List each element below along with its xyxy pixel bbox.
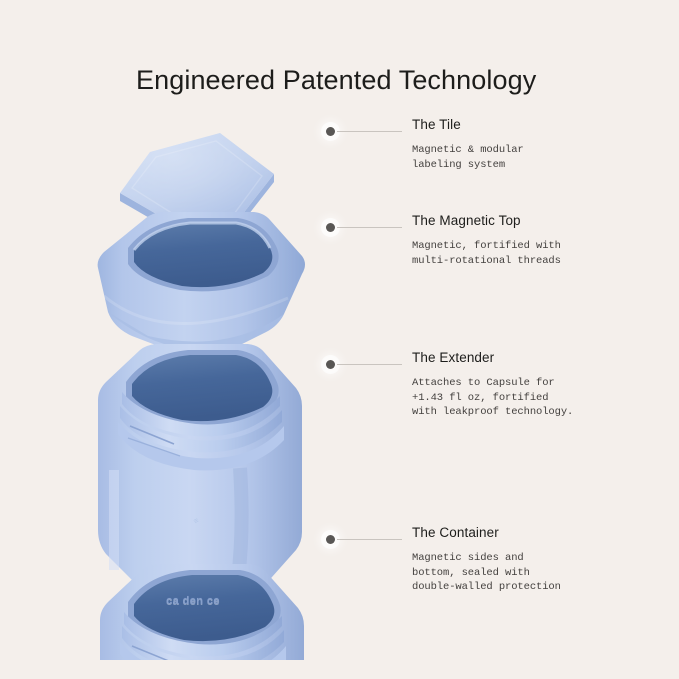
callout-marker-dot [326,223,335,232]
callout-body: The Tile Magnetic & modular labeling sys… [412,115,612,172]
callout-label: The Extender [412,348,612,368]
product-illustration: ≡ [88,100,313,660]
callout-leader-line [337,131,402,132]
callout-leader-line [337,364,402,365]
callout-label: The Tile [412,115,612,135]
callout-body: The Magnetic Top Magnetic, fortified wit… [412,211,612,268]
callout-description: Attaches to Capsule for +1.43 fl oz, for… [412,376,612,420]
callout-body: The Extender Attaches to Capsule for +1.… [412,348,612,420]
callout-description: Magnetic, fortified with multi-rotationa… [412,239,612,268]
part-extender [98,344,302,594]
callout-label: The Container [412,523,612,543]
callout-leader-line [337,227,402,228]
callout-description: Magnetic sides and bottom, sealed with d… [412,551,612,595]
part-magnetic-top [98,212,305,354]
page-title: Engineered Patented Technology [136,62,536,98]
part-container [93,564,304,660]
product-feature-page: Engineered Patented Technology [0,0,679,679]
callout-label: The Magnetic Top [412,211,612,231]
callout-marker-dot [326,127,335,136]
callout-description: Magnetic & modular labeling system [412,143,612,172]
callout-marker-dot [326,360,335,369]
callout-leader-line [337,539,402,540]
callout-body: The Container Magnetic sides and bottom,… [412,523,612,595]
callout-marker-dot [326,535,335,544]
